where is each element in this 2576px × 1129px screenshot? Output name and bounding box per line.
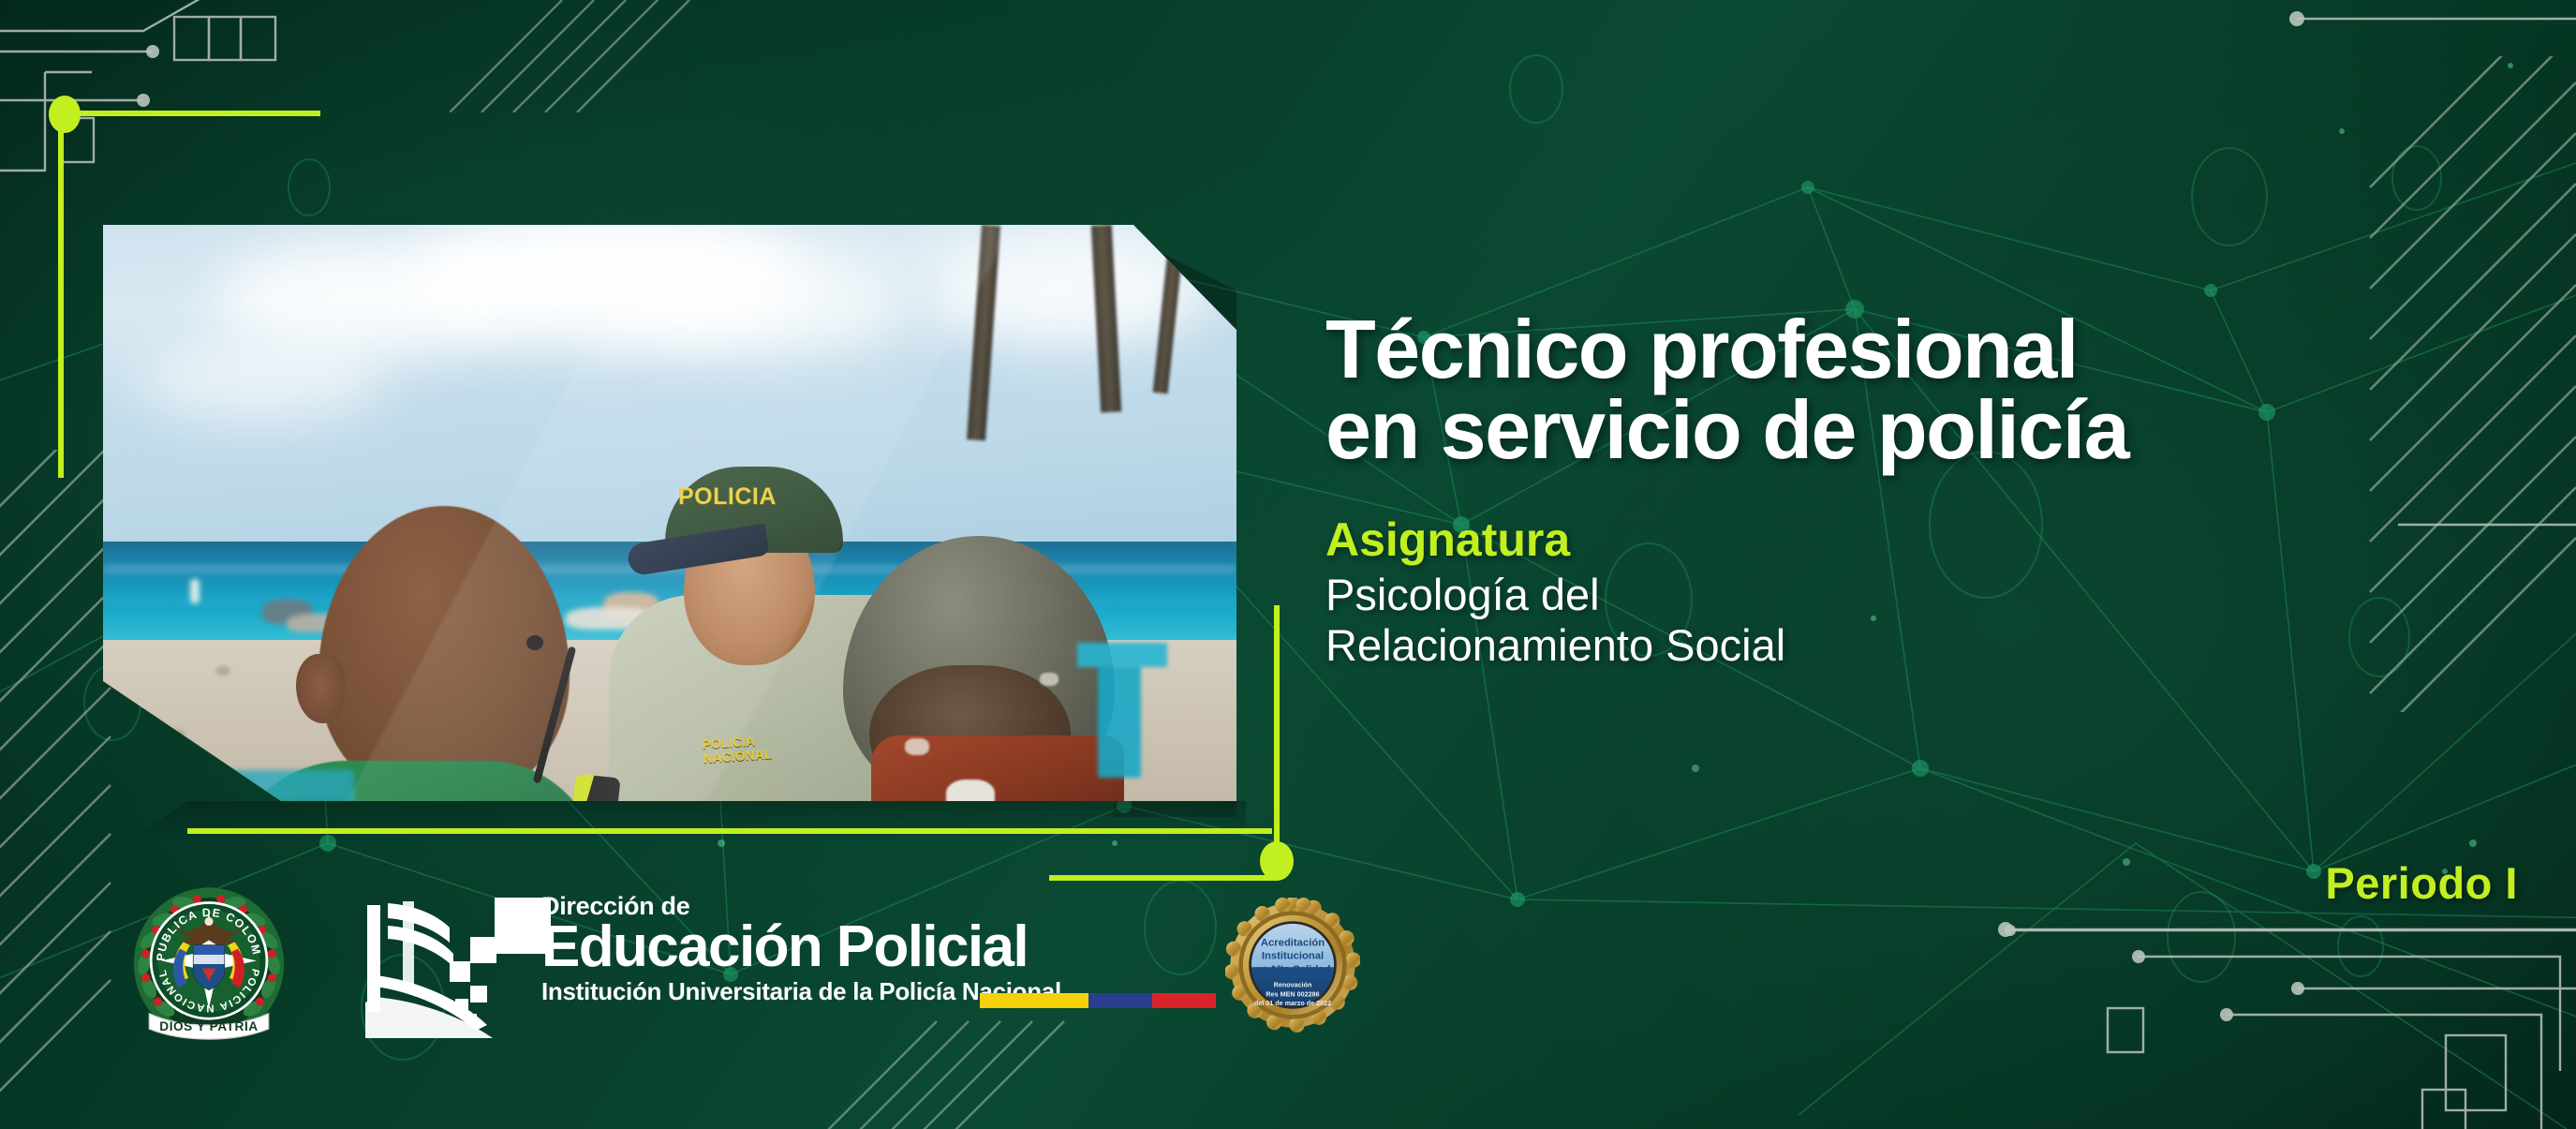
accent-line-top-vertical [58,111,64,478]
photo-radio [567,774,620,801]
policia-nacional-crest: REPUBLICA DE COLOMBIA POLICIA NACIONAL D… [124,879,294,1049]
accent-line-photo-right-vertical [1274,605,1280,853]
crest-motto: DIOS Y PATRIA [159,1019,258,1033]
course-name-line2: Relacionamiento Social [1325,620,2553,671]
hatch-lines-top [450,0,693,112]
course-name-line1: Psicología del [1325,570,2553,620]
flag-stripe-red [1152,993,1216,1008]
educacion-policial-logo-text: Dirección de Educación Policial Instituc… [541,892,1061,1006]
seal-line1: Acreditación [1261,937,1325,948]
colombia-flag-bar [980,993,1216,1008]
period-label: Periodo I [2325,857,2518,909]
periodo-underline [2005,923,2576,938]
accent-node-photo-corner [1260,841,1294,881]
seal-sub1: Renovación [1274,980,1312,988]
banner-text-block: Técnico profesional en servicio de polic… [1325,309,2553,671]
flag-stripe-yellow [980,993,1088,1008]
photo-shadow-bar [131,801,1246,840]
accent-line-under-photo [187,828,1272,834]
photo-cap-text: POLICIA [678,483,777,511]
seal-line3: en Alta Calidad [1255,964,1331,975]
seal-line2: Institucional [1262,951,1324,962]
flag-stripe-blue [1088,993,1152,1008]
hero-photo: POLICIA POLICIA NACIONAL [103,225,1236,801]
accent-line-top-horizontal [67,111,320,116]
logo-line-educacion-policial: Educación Policial [541,919,1061,975]
program-title-line2: en servicio de policía [1325,390,2553,470]
seal-sub2: Res MEN 002286 [1266,989,1319,998]
course-banner: POLICIA POLICIA NACIONAL [0,0,2576,1129]
program-title: Técnico profesional en servicio de polic… [1325,309,2553,470]
accent-line-lower-short [1049,875,1279,881]
course-name: Psicología del Relacionamiento Social [1325,570,2553,671]
program-title-line1: Técnico profesional [1325,309,2553,390]
accreditation-seal: Acreditación Institucional en Alta Calid… [1225,898,1360,1032]
seal-sub3: del 01 de marzo de 2022 [1254,999,1331,1007]
photo-uniform-text: POLICIA NACIONAL [702,733,773,765]
course-label: Asignatura [1325,513,2553,566]
